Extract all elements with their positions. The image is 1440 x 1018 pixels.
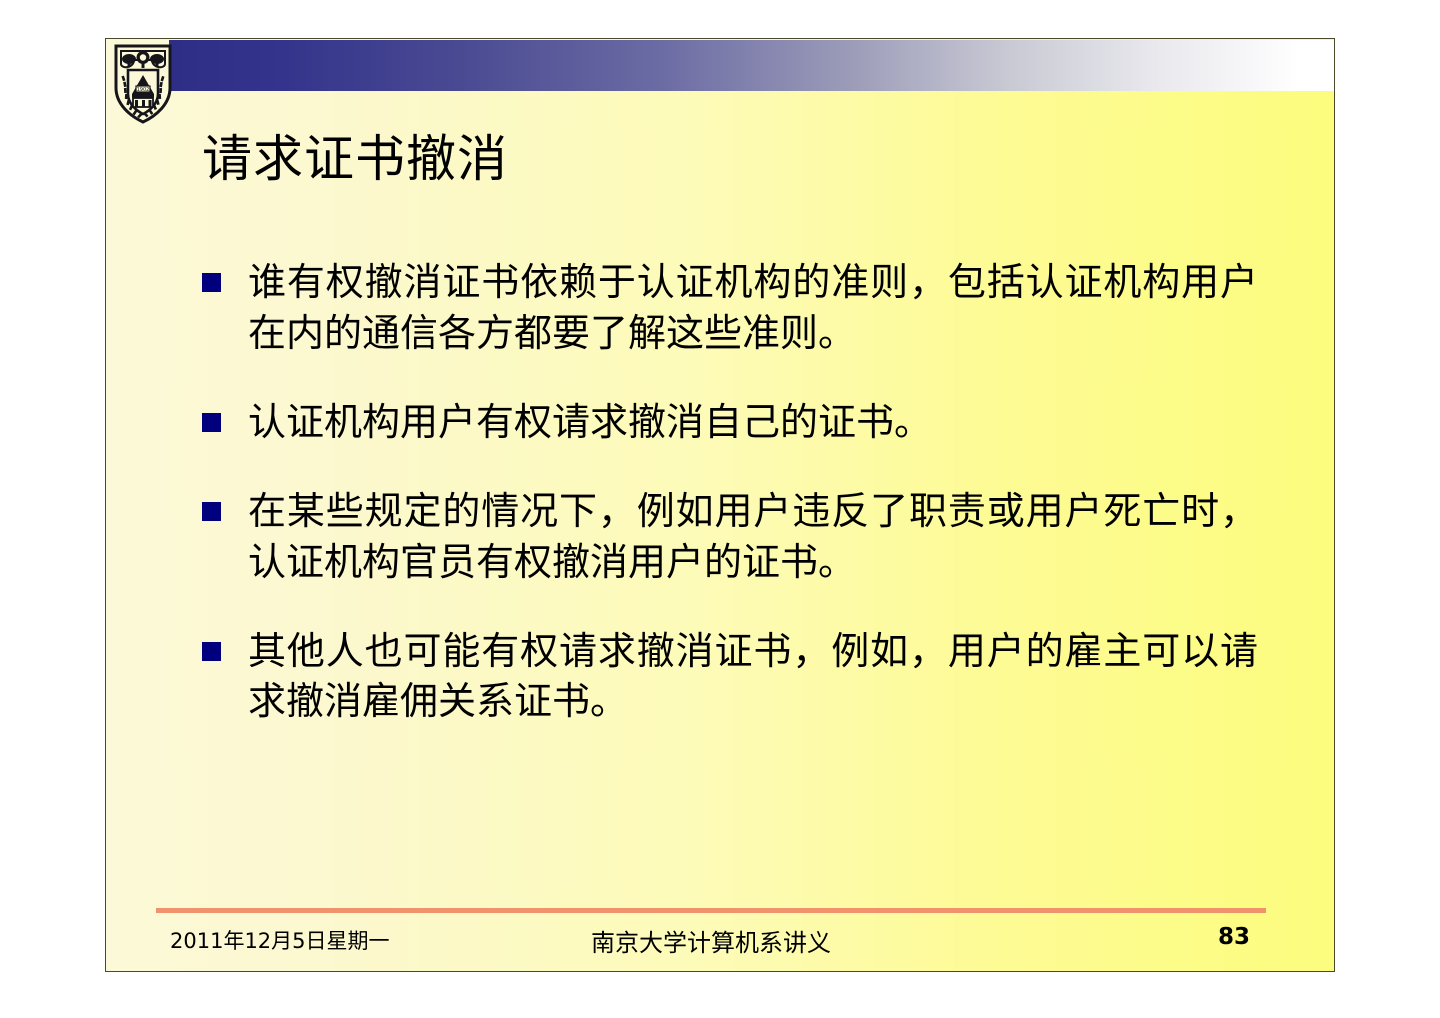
list-item-text: 认证机构用户有权请求撤消自己的证书。 bbox=[248, 397, 1258, 448]
list-item: 谁有权撤消证书依赖于认证机构的准则，包括认证机构用户在内的通信各方都要了解这些准… bbox=[202, 257, 1258, 359]
slide-footer: 2011年12月5日星期一 南京大学计算机系讲义 83 bbox=[156, 919, 1266, 959]
bullet-square-icon bbox=[202, 642, 221, 661]
footer-page-number: 83 bbox=[1218, 924, 1250, 950]
page-title: 请求证书撤消 bbox=[202, 131, 508, 189]
header-gradient-bar bbox=[169, 40, 1334, 91]
slide-canvas: 1902 bbox=[105, 38, 1335, 972]
header-band bbox=[106, 39, 1334, 91]
list-item-text: 谁有权撤消证书依赖于认证机构的准则，包括认证机构用户在内的通信各方都要了解这些准… bbox=[248, 257, 1258, 359]
svg-text:1902: 1902 bbox=[137, 87, 150, 93]
list-item: 在某些规定的情况下，例如用户违反了职责或用户死亡时，认证机构官员有权撤消用户的证… bbox=[202, 486, 1258, 588]
list-item-text: 其他人也可能有权请求撤消证书，例如，用户的雇主可以请求撤消雇佣关系证书。 bbox=[248, 626, 1258, 728]
university-crest-icon: 1902 bbox=[112, 42, 174, 126]
list-item-text: 在某些规定的情况下，例如用户违反了职责或用户死亡时，认证机构官员有权撤消用户的证… bbox=[248, 486, 1258, 588]
list-item: 其他人也可能有权请求撤消证书，例如，用户的雇主可以请求撤消雇佣关系证书。 bbox=[202, 626, 1258, 728]
list-item: 认证机构用户有权请求撤消自己的证书。 bbox=[202, 397, 1258, 448]
footer-divider bbox=[156, 908, 1266, 913]
bullet-square-icon bbox=[202, 413, 221, 432]
footer-course-label: 南京大学计算机系讲义 bbox=[156, 923, 1266, 958]
bullet-list: 谁有权撤消证书依赖于认证机构的准则，包括认证机构用户在内的通信各方都要了解这些准… bbox=[202, 257, 1258, 765]
bullet-square-icon bbox=[202, 502, 221, 521]
bullet-square-icon bbox=[202, 273, 221, 292]
